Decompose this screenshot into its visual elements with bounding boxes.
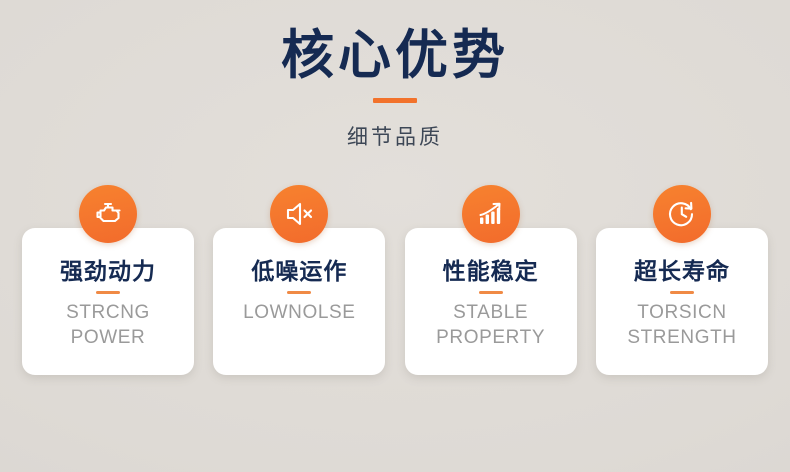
speaker-mute-icon <box>270 185 328 243</box>
card-subtitle-en: STABLE PROPERTY <box>436 294 545 350</box>
feature-card-list: 强劲动力 STRCNG POWER 低噪运作 LOWNOLSE <box>22 228 768 375</box>
feature-card-stable-property[interactable]: 性能稳定 STABLE PROPERTY <box>405 228 577 375</box>
growth-chart-icon <box>462 185 520 243</box>
clock-rotate-icon <box>653 185 711 243</box>
page-title: 核心优势 <box>0 0 790 85</box>
banner-header: 核心优势 细节品质 <box>0 0 790 151</box>
page-subtitle: 细节品质 <box>0 103 790 151</box>
card-subtitle-en: STRCNG POWER <box>66 294 150 350</box>
feature-card-strong-power[interactable]: 强劲动力 STRCNG POWER <box>22 228 194 375</box>
promo-banner: 核心优势 细节品质 强劲动力 STRCNG POWER <box>0 0 790 472</box>
engine-icon <box>79 185 137 243</box>
feature-card-low-noise[interactable]: 低噪运作 LOWNOLSE <box>213 228 385 375</box>
card-subtitle-en: TORSICN STRENGTH <box>627 294 736 350</box>
card-subtitle-en: LOWNOLSE <box>243 294 356 325</box>
feature-card-long-life[interactable]: 超长寿命 TORSICN STRENGTH <box>596 228 768 375</box>
